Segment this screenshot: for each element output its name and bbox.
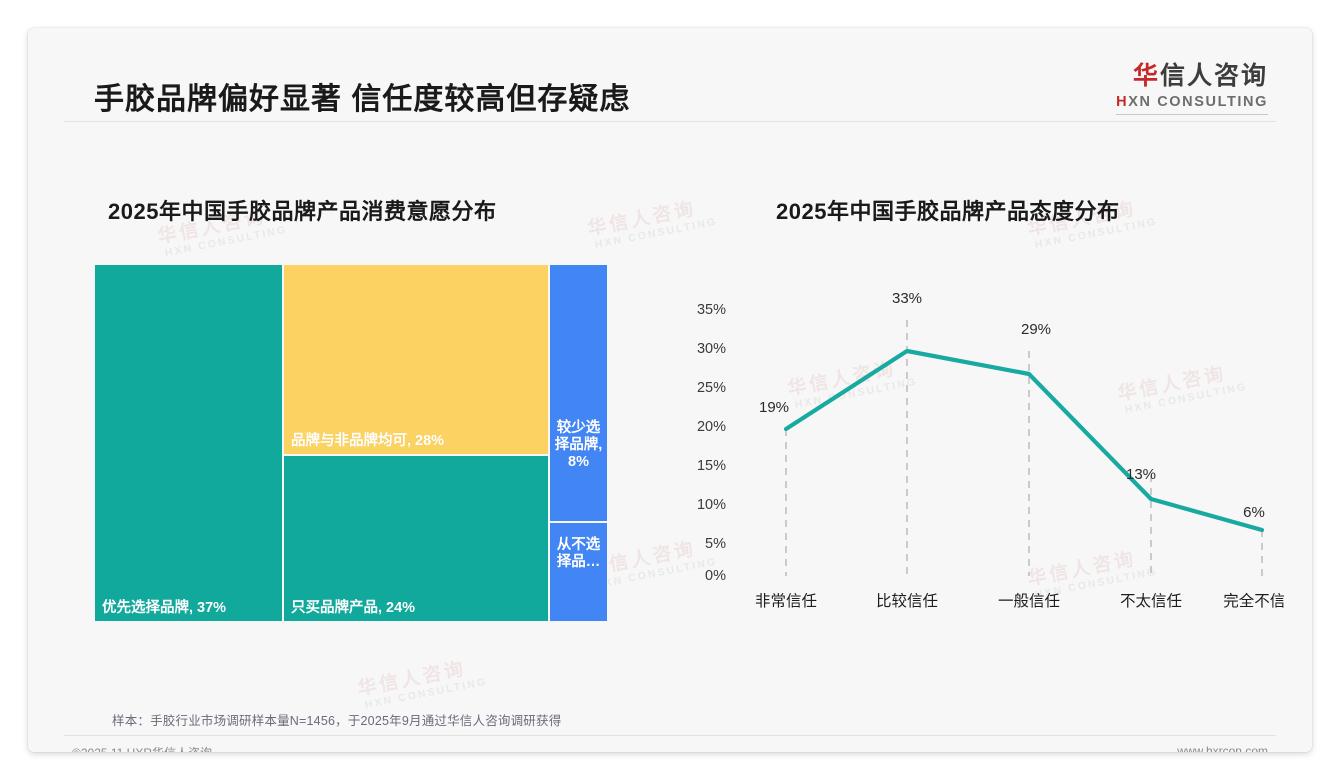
y-tick-label: 10% (697, 497, 726, 513)
watermark-mark: 华信人咨询 HXN CONSULTING (356, 656, 488, 712)
treemap-chart-title: 2025年中国手胶品牌产品消费意愿分布 (108, 194, 496, 226)
logo-english-name: HXN CONSULTING (1116, 94, 1268, 110)
logo-cn-rest: 信人咨询 (1160, 62, 1268, 90)
data-label: 19% (759, 399, 789, 416)
x-tick-label: 比较信任 (876, 592, 938, 610)
x-tick-label: 非常信任 (755, 592, 817, 610)
slide-footer: ©2025.11 HXR华信人咨询 www.hxrcon.com (28, 736, 1312, 752)
y-tick-label: 30% (697, 341, 726, 357)
logo-en-accent: H (1116, 94, 1128, 110)
x-tick-label: 不太信任 (1120, 592, 1182, 610)
watermark-cn: 华信人咨询 (356, 656, 486, 701)
y-tick-label: 35% (697, 302, 726, 318)
line-series-trust (786, 351, 1262, 530)
line-chart-svg: 35% 30% 25% 20% 15% 10% 5% 0% 19 (664, 264, 1284, 622)
slide-header: 手胶品牌偏好显著 信任度较高但存疑虑 华信人咨询 HXN CONSULTING (28, 28, 1312, 122)
slide-canvas: 华信人咨询 HXN CONSULTING 华信人咨询 HXN CONSULTIN… (28, 28, 1312, 752)
page-title: 手胶品牌偏好显著 信任度较高但存疑虑 (94, 74, 630, 118)
y-tick-label: 15% (697, 458, 726, 474)
logo-underline (1116, 114, 1268, 115)
x-tick-label: 一般信任 (998, 592, 1060, 610)
treemap-tile-label: 较少选择品牌, 8% (550, 420, 607, 471)
sample-note: 样本：手胶行业市场调研样本量N=1456，于2025年9月通过华信人咨询调研获得 (112, 710, 561, 729)
data-label: 13% (1126, 466, 1156, 483)
treemap-tile-never-brand[interactable]: 从不选择品… (549, 522, 608, 622)
treemap-tile-rarely-brand[interactable]: 较少选择品牌, 8% (549, 264, 608, 522)
gridlines (786, 320, 1262, 576)
data-label: 29% (1021, 321, 1051, 338)
watermark-en: HXN CONSULTING (364, 676, 488, 711)
treemap-tile-label: 品牌与非品牌均可, 28% (291, 429, 444, 450)
y-tick-label: 20% (697, 419, 726, 435)
data-label: 6% (1243, 504, 1265, 521)
watermark-en: HXN CONSULTING (164, 224, 288, 259)
y-axis-ticks: 35% 30% 25% 20% 15% 10% 5% 0% (697, 302, 726, 584)
copyright-text: ©2025.11 HXR华信人咨询 (72, 744, 212, 752)
x-tick-label: 完全不信任 (1223, 592, 1284, 610)
y-tick-label: 5% (705, 536, 726, 552)
logo-chinese-name: 华信人咨询 (1116, 56, 1268, 92)
line-chart: 35% 30% 25% 20% 15% 10% 5% 0% 19 (664, 264, 1284, 622)
header-divider (64, 121, 1276, 122)
treemap-tile-label: 优先选择品牌, 37% (102, 596, 226, 617)
treemap-tile-brand-only[interactable]: 只买品牌产品, 24% (283, 455, 549, 622)
watermark-mark: 华信人咨询 HXN CONSULTING (586, 196, 718, 252)
treemap-tile-priority-brand[interactable]: 优先选择品牌, 37% (94, 264, 283, 622)
treemap-tile-label: 从不选择品… (550, 537, 607, 571)
watermark-en: HXN CONSULTING (594, 216, 718, 251)
y-tick-label: 25% (697, 380, 726, 396)
data-labels: 19% 33% 29% 13% 6% (759, 290, 1265, 521)
website-link[interactable]: www.hxrcon.com (1177, 744, 1268, 752)
treemap-chart: 优先选择品牌, 37% 品牌与非品牌均可, 28% 只买品牌产品, 24% 较少… (94, 264, 608, 622)
brand-logo: 华信人咨询 HXN CONSULTING (1116, 56, 1268, 115)
y-tick-label: 0% (705, 568, 726, 584)
treemap-tile-label: 只买品牌产品, 24% (291, 596, 415, 617)
treemap-tile-brand-or-nonbrand[interactable]: 品牌与非品牌均可, 28% (283, 264, 549, 455)
x-axis-ticks: 非常信任 比较信任 一般信任 不太信任 完全不信任 (755, 592, 1284, 610)
logo-en-rest: XN CONSULTING (1128, 94, 1268, 110)
watermark-cn: 华信人咨询 (586, 196, 716, 241)
line-chart-title: 2025年中国手胶品牌产品态度分布 (776, 194, 1119, 226)
logo-cn-accent: 华 (1133, 62, 1160, 90)
data-label: 33% (892, 290, 922, 307)
